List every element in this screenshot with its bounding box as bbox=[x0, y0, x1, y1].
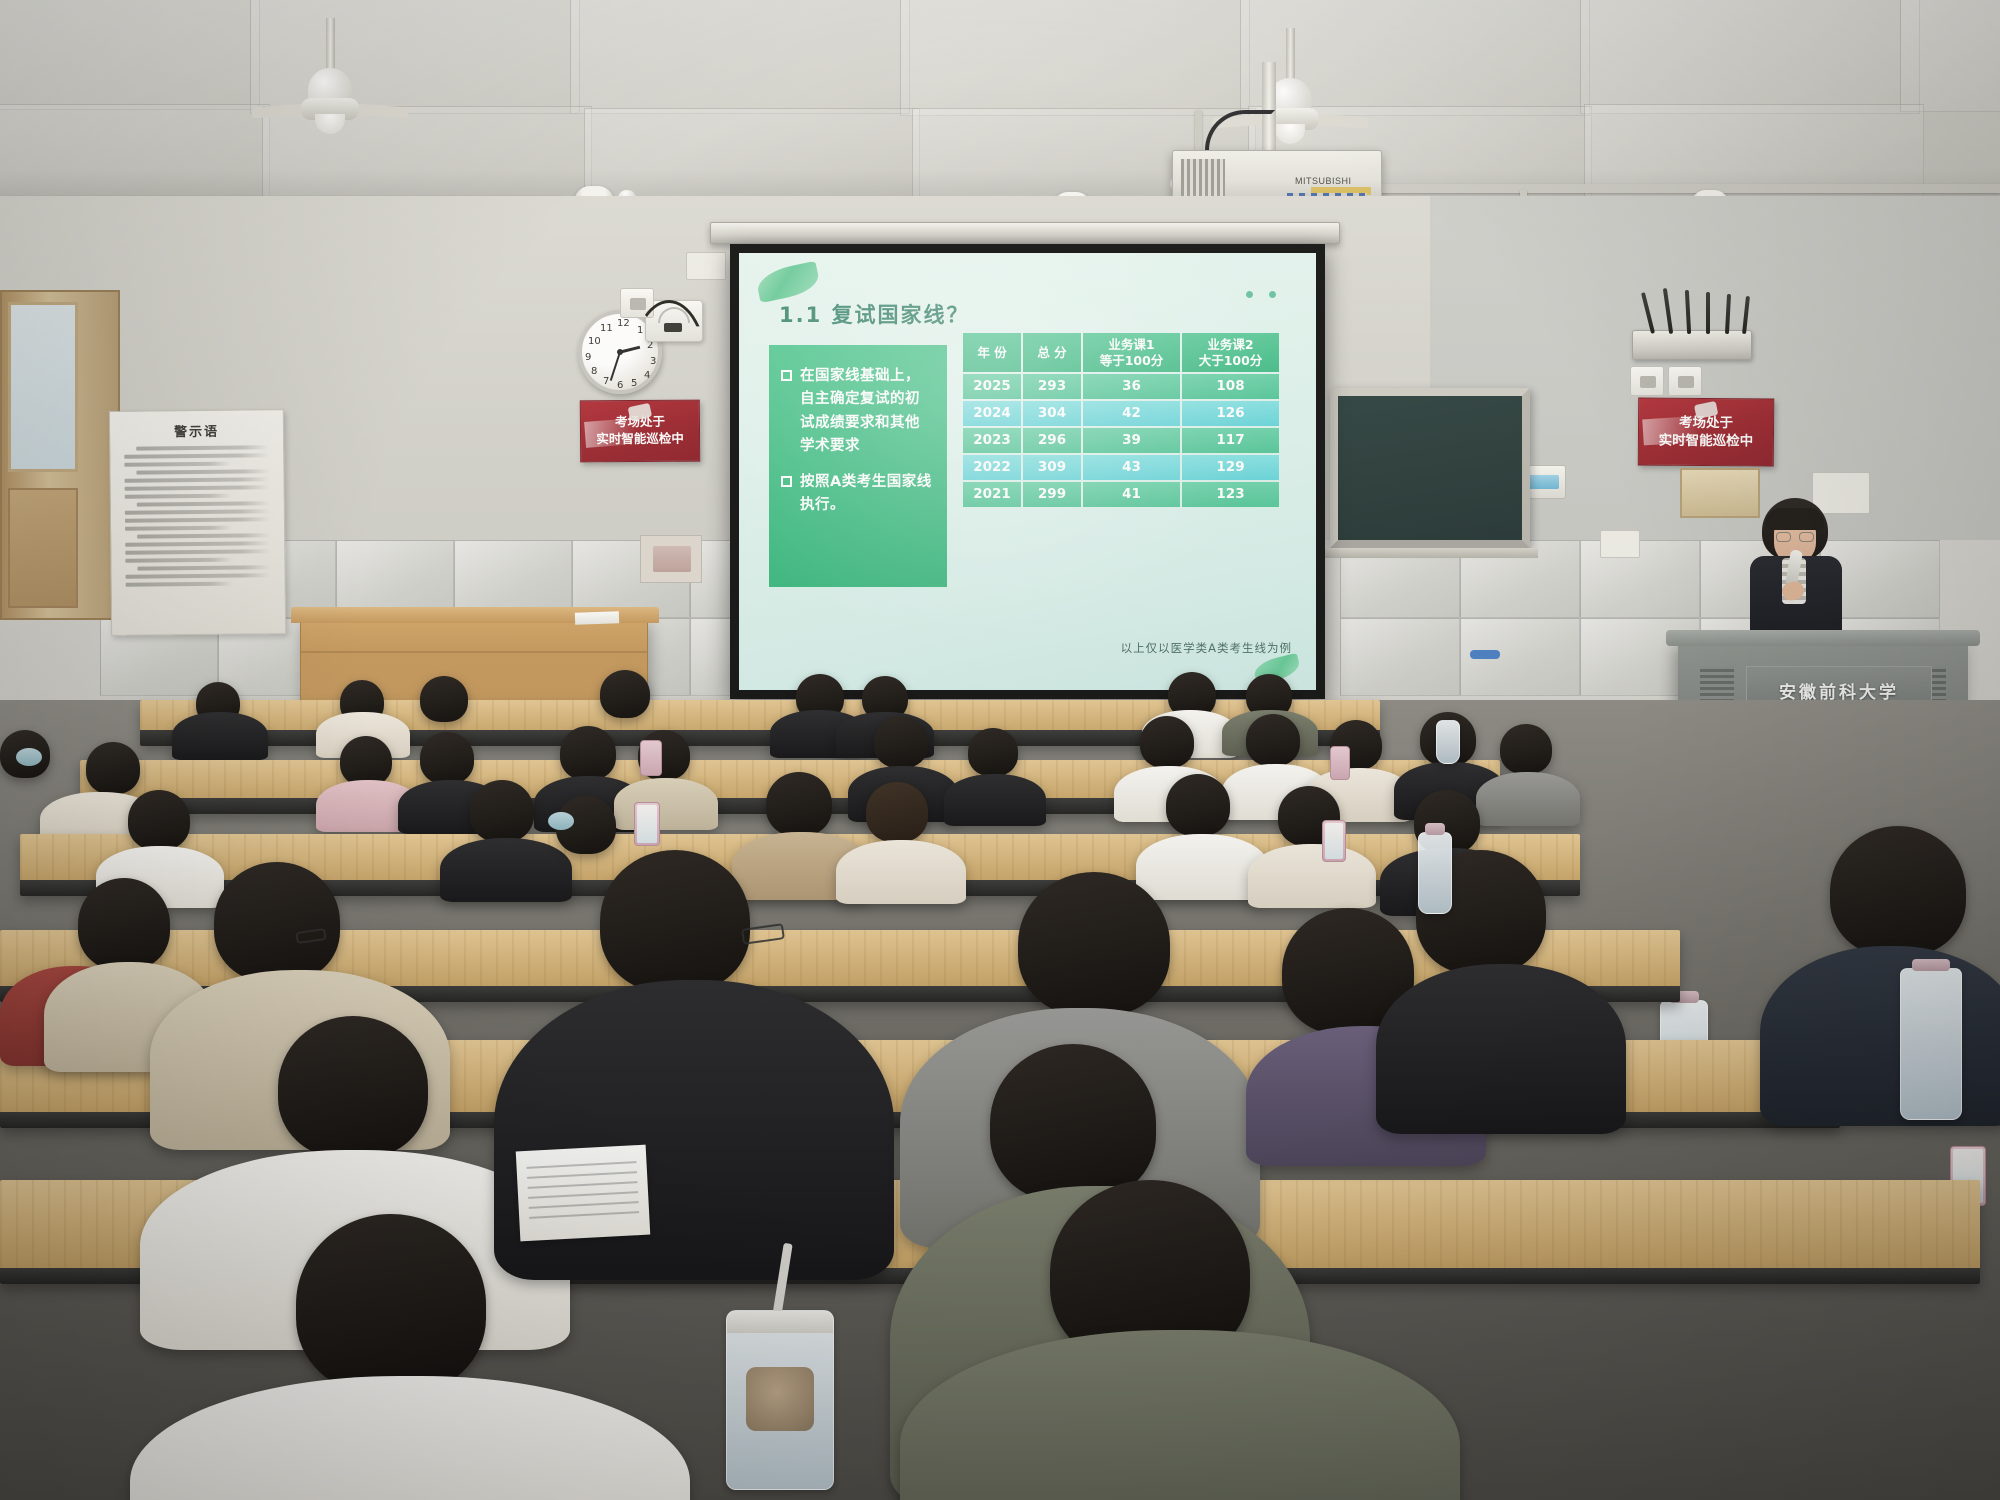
student-torso bbox=[172, 712, 268, 760]
table-row: 2023 296 39 117 bbox=[963, 428, 1279, 453]
cell-total: 293 bbox=[1023, 374, 1081, 399]
board-eraser[interactable] bbox=[1470, 650, 1500, 659]
slide-footnote: 以上仅以医学类A类考生线为例 bbox=[1121, 640, 1292, 656]
student-head bbox=[1166, 774, 1230, 836]
cell-course1: 39 bbox=[1083, 428, 1180, 453]
phone-device[interactable] bbox=[634, 802, 660, 846]
col-header-total: 总 分 bbox=[1023, 333, 1081, 372]
slide-bullet-panel: 在国家线基础上，自主确定复试的初试成绩要求和其他学术要求 按照A类考生国家线执行… bbox=[769, 345, 947, 587]
student-head bbox=[766, 772, 832, 836]
phone-device[interactable] bbox=[640, 740, 662, 776]
student-head bbox=[296, 1214, 486, 1394]
bullet-item: 在国家线基础上，自主确定复试的初试成绩要求和其他学术要求 bbox=[781, 365, 933, 459]
cell-course1: 36 bbox=[1083, 374, 1180, 399]
student-head bbox=[1246, 714, 1300, 766]
cell-course1: 42 bbox=[1083, 401, 1180, 426]
col-header-course2-line2: 大于100分 bbox=[1184, 353, 1277, 369]
door-lower-panel bbox=[8, 488, 78, 608]
cell-course2: 123 bbox=[1182, 482, 1279, 507]
phone-device[interactable] bbox=[1330, 746, 1350, 780]
table-row: 2025 293 36 108 bbox=[963, 374, 1279, 399]
student-head bbox=[1018, 872, 1170, 1016]
presentation-slide: 1.1 复试国家线？ 在国家线基础上，自主确定复试的初试成绩要求和其他学术要求 … bbox=[739, 253, 1316, 690]
jammer-antenna bbox=[1706, 292, 1710, 334]
student-torso bbox=[1376, 964, 1626, 1134]
table-row: 2022 309 43 129 bbox=[963, 455, 1279, 480]
col-header-year: 年 份 bbox=[963, 333, 1021, 372]
wall-socket-right-b[interactable] bbox=[1668, 366, 1702, 396]
student-head bbox=[866, 782, 928, 842]
chalk-tray bbox=[1322, 548, 1538, 558]
bullet-square-icon bbox=[781, 476, 792, 487]
desk-paper bbox=[575, 611, 619, 625]
table-row: 2021 299 41 123 bbox=[963, 482, 1279, 507]
student-head bbox=[340, 736, 392, 786]
projector-brand-label: MITSUBISHI bbox=[1295, 176, 1352, 186]
blackboard bbox=[1330, 388, 1530, 548]
cell-total: 309 bbox=[1023, 455, 1081, 480]
projection-screen-housing bbox=[710, 222, 1340, 244]
cell-course2: 108 bbox=[1182, 374, 1279, 399]
table-row: 2024 304 42 126 bbox=[963, 401, 1279, 426]
student-head bbox=[278, 1016, 428, 1158]
warning-poster-title: 警示语 bbox=[122, 420, 271, 441]
col-header-course2: 业务课2 大于100分 bbox=[1182, 333, 1279, 372]
cell-total: 296 bbox=[1023, 428, 1081, 453]
slide-dot-decoration bbox=[1230, 285, 1276, 303]
slide-title: 1.1 复试国家线？ bbox=[779, 299, 970, 329]
col-header-course1-line1: 业务课1 bbox=[1085, 337, 1178, 353]
student-head bbox=[600, 670, 650, 718]
cell-year: 2021 bbox=[963, 482, 1021, 507]
water-bottle[interactable] bbox=[1418, 832, 1452, 914]
wall-socket-right-a[interactable] bbox=[1630, 366, 1664, 396]
cell-course1: 41 bbox=[1083, 482, 1180, 507]
student-head bbox=[214, 862, 340, 982]
student-head bbox=[1140, 716, 1194, 768]
student-torso bbox=[836, 840, 966, 904]
cell-year: 2024 bbox=[963, 401, 1021, 426]
leaf-decoration-icon bbox=[755, 261, 822, 303]
bullet-text: 按照A类考生国家线执行。 bbox=[800, 471, 933, 518]
student-head bbox=[420, 732, 474, 784]
col-header-course1-line2: 等于100分 bbox=[1085, 353, 1178, 369]
student-head bbox=[470, 780, 534, 842]
student-head bbox=[600, 850, 750, 992]
wall-outlet-plate-right[interactable] bbox=[1600, 530, 1640, 558]
student-torso bbox=[944, 774, 1046, 826]
wall-switch-plate[interactable] bbox=[686, 252, 726, 280]
bullet-text: 在国家线基础上，自主确定复试的初试成绩要求和其他学术要求 bbox=[800, 365, 933, 459]
student-head bbox=[968, 728, 1018, 776]
ceiling-conduit-right bbox=[1330, 184, 2000, 193]
cell-course1: 43 bbox=[1083, 455, 1180, 480]
hair-scrunchie bbox=[16, 748, 42, 766]
tumbler-cup[interactable] bbox=[726, 1310, 834, 1490]
student-head bbox=[86, 742, 140, 794]
classroom-door[interactable] bbox=[0, 290, 120, 620]
university-name: 安徽前科大学 bbox=[1779, 678, 1899, 703]
water-bottle[interactable] bbox=[1900, 968, 1962, 1120]
hair-scrunchie bbox=[548, 812, 574, 830]
presenter-glasses bbox=[1776, 532, 1814, 542]
door-glass-pane bbox=[8, 302, 78, 472]
student-torso bbox=[1476, 772, 1580, 826]
lecture-hall-photo: MITSUBISHI 警示语 bbox=[0, 0, 2000, 1500]
projection-screen: 1.1 复试国家线？ 在国家线基础上，自主确定复试的初试成绩要求和其他学术要求 … bbox=[730, 244, 1325, 699]
table-header-row: 年 份 总 分 业务课1 等于100分 业务课2 大于100分 bbox=[963, 333, 1279, 372]
student-head bbox=[128, 790, 190, 850]
cell-year: 2022 bbox=[963, 455, 1021, 480]
presenter-person bbox=[1736, 498, 1856, 648]
student-head bbox=[560, 726, 616, 780]
cell-total: 299 bbox=[1023, 482, 1081, 507]
cell-course2: 129 bbox=[1182, 455, 1279, 480]
warning-notice-poster: 警示语 bbox=[109, 409, 286, 636]
exam-monitoring-banner-right: 考场处于 实时智能巡检中 bbox=[1638, 398, 1774, 467]
student-head bbox=[78, 878, 170, 970]
cell-course2: 126 bbox=[1182, 401, 1279, 426]
cell-total: 304 bbox=[1023, 401, 1081, 426]
student-head bbox=[874, 716, 928, 768]
student-head bbox=[1500, 724, 1552, 774]
national-score-line-table: 年 份 总 分 业务课1 等于100分 业务课2 大于100分 bbox=[961, 331, 1281, 509]
water-bottle[interactable] bbox=[1436, 720, 1460, 764]
cell-course2: 117 bbox=[1182, 428, 1279, 453]
handout-paper[interactable] bbox=[516, 1145, 651, 1242]
student-head bbox=[990, 1044, 1156, 1202]
student-torso bbox=[614, 778, 718, 830]
col-header-course2-line1: 业务课2 bbox=[1184, 337, 1277, 353]
col-header-course1: 业务课1 等于100分 bbox=[1083, 333, 1180, 372]
bullet-item: 按照A类考生国家线执行。 bbox=[781, 471, 933, 518]
fire-equipment-box bbox=[640, 535, 702, 583]
student-torso bbox=[1248, 844, 1376, 908]
signal-jammer-device bbox=[1632, 330, 1752, 360]
student-head bbox=[420, 676, 468, 722]
cell-year: 2023 bbox=[963, 428, 1021, 453]
exam-monitoring-banner-left: 考场处于 实时智能巡检中 bbox=[580, 400, 700, 463]
student-head bbox=[1830, 826, 1966, 956]
bullet-square-icon bbox=[781, 370, 792, 381]
student-torso bbox=[440, 838, 572, 902]
cell-year: 2025 bbox=[963, 374, 1021, 399]
phone-device[interactable] bbox=[1322, 820, 1346, 862]
student-torso bbox=[1760, 946, 2000, 1126]
